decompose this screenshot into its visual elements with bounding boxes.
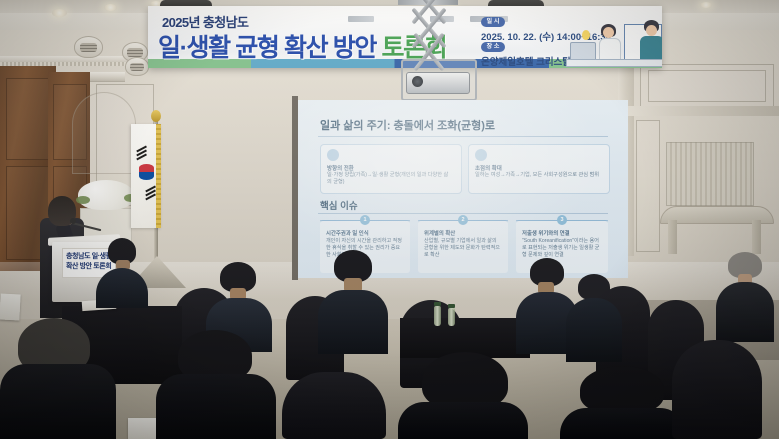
- leaf-shape: [76, 196, 90, 204]
- document-paper: [0, 293, 21, 320]
- card-heading: 초점의 확대: [475, 164, 502, 172]
- ceiling-light: [104, 4, 117, 11]
- bottle-cap: [434, 302, 441, 306]
- audience-member: [96, 238, 148, 308]
- issue-heading: 시간주권과 일 인식: [326, 229, 369, 237]
- water-bottle: [434, 306, 441, 326]
- expand-icon: [475, 149, 487, 161]
- issue-body: "South Koreanification"이라는 용어로 표현되는 저출생 …: [522, 238, 602, 259]
- audience-member-foreground: [156, 330, 276, 439]
- date-value-text: 2025. 10. 22. (수) 14:00~16:30: [481, 29, 611, 43]
- card-body: 일·가정 양립(가족)→일·생활 균형(개인의 일과 다양한 삶의 균형): [327, 172, 453, 186]
- head-shape: [646, 25, 657, 36]
- wall-pilaster: [626, 106, 779, 116]
- conference-photo: 2025년 충청남도 일·생활 균형 확산 방안 토론회 일 시 2025. 1…: [0, 0, 779, 439]
- sponsor-logo: [348, 16, 374, 22]
- audience-chair: [282, 372, 386, 439]
- projector-lens-icon: [412, 76, 423, 87]
- head-shape: [603, 27, 614, 38]
- title-divider: [318, 136, 608, 137]
- illustration-woman: [598, 24, 622, 62]
- audience-member: [318, 250, 388, 354]
- shoulders-shape: [0, 364, 116, 439]
- issue-number-badge: 3: [557, 215, 567, 225]
- taeguk-blue: [139, 172, 154, 180]
- korean-flag: [131, 124, 161, 228]
- illustration-man: [640, 20, 662, 64]
- window-blinds: [666, 142, 754, 206]
- shoulders-shape: [398, 402, 528, 439]
- wall-panel: [636, 120, 660, 252]
- ceiling-light: [52, 9, 67, 17]
- place-value-text: 온양제일호텔 크리스탈홀: [481, 54, 580, 68]
- shoulders-shape: [156, 374, 276, 439]
- hair-shape: [580, 366, 664, 414]
- audience-member-foreground: [560, 366, 686, 439]
- card-heading: 방향의 전환: [327, 164, 354, 172]
- lightbulb-icon: [582, 30, 590, 40]
- hair-shape: [578, 274, 610, 300]
- shoulders-shape: [566, 298, 622, 362]
- slide-section-title: 핵심 이슈: [320, 198, 358, 212]
- audience-member-foreground: [398, 352, 528, 439]
- wall-speaker-icon: [125, 57, 149, 76]
- taeguk-red: [139, 164, 154, 172]
- wall-speaker-icon: [74, 36, 103, 58]
- slide-title: 일과 삶의 주기: 충돌에서 조화(균형)로: [320, 117, 495, 133]
- water-bottle: [448, 308, 455, 326]
- issue-number-badge: 2: [458, 215, 468, 225]
- console-leg: [752, 220, 761, 254]
- shoulders-shape: [96, 268, 148, 308]
- audience-chair: [672, 340, 762, 439]
- desk-shape: [566, 59, 662, 67]
- bottle-cap: [448, 304, 455, 308]
- microphone-head-icon: [70, 218, 76, 224]
- ceiling-light: [700, 2, 712, 8]
- shoulders-shape: [318, 290, 388, 354]
- shoulders-shape: [560, 408, 686, 439]
- issue-heading: 저출생 위기와의 연결: [522, 229, 570, 237]
- audience-member: [716, 252, 774, 342]
- card-body: 일하는 여성→가족→기업, 모든 사회구성원으로 관심 범위: [475, 172, 601, 179]
- door-panel: [6, 78, 52, 160]
- console-leg: [668, 220, 677, 254]
- section-divider: [318, 213, 608, 214]
- banner-title-blue: 일·생활 균형 확산 방안: [158, 34, 382, 62]
- flag-fringe: [156, 124, 161, 228]
- wall-panel: [648, 70, 766, 102]
- date-label-badge: 일 시: [481, 17, 505, 27]
- issue-body: 산업별, 규모별 기업에서 일과 삶의 균형을 위한 제도와 문화가 탄력적으로…: [424, 238, 502, 259]
- issue-heading: 위계별의 확산: [424, 229, 455, 237]
- flag-finial-icon: [151, 110, 161, 122]
- audience-member: [566, 274, 622, 362]
- refresh-icon: [327, 149, 339, 161]
- audience-member-foreground: [0, 318, 116, 439]
- shoulders-shape: [716, 282, 774, 342]
- issue-number-badge: 1: [360, 215, 370, 225]
- place-label-badge: 장 소: [481, 42, 505, 52]
